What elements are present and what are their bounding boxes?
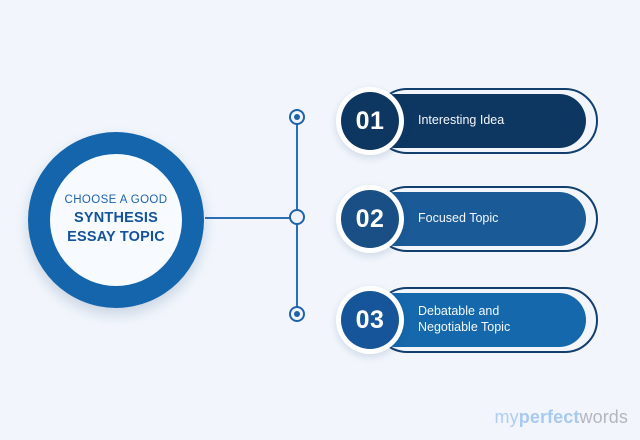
connector-node-3 — [289, 306, 305, 322]
connector-node-2 — [289, 209, 305, 225]
hub-title-line-2: SYNTHESIS — [74, 209, 158, 228]
step-number-badge: 03 — [341, 291, 399, 349]
connector-node-1 — [289, 109, 305, 125]
step-item-3[interactable]: Debatable and Negotiable Topic 03 — [336, 287, 598, 353]
hub-title-line-1: CHOOSE A GOOD — [65, 193, 168, 209]
logo-part-words: words — [579, 407, 628, 427]
logo-part-my: my — [495, 407, 519, 427]
hub-inner-disc: CHOOSE A GOOD SYNTHESIS ESSAY TOPIC — [50, 154, 182, 286]
step-number-badge: 01 — [341, 92, 399, 150]
step-badge-ring: 02 — [336, 185, 404, 253]
step-item-2[interactable]: Focused Topic 02 — [336, 186, 598, 252]
step-item-1[interactable]: Interesting Idea 01 — [336, 88, 598, 154]
step-number-badge: 02 — [341, 190, 399, 248]
hub-title-line-3: ESSAY TOPIC — [67, 228, 165, 247]
connector-horizontal-line — [205, 217, 297, 219]
brand-logo: myperfectwords — [495, 407, 628, 428]
step-badge-ring: 03 — [336, 286, 404, 354]
step-badge-ring: 01 — [336, 87, 404, 155]
infographic-canvas: CHOOSE A GOOD SYNTHESIS ESSAY TOPIC Inte… — [0, 0, 640, 440]
logo-part-perfect: perfect — [519, 407, 580, 427]
hub-circle: CHOOSE A GOOD SYNTHESIS ESSAY TOPIC — [28, 132, 204, 308]
